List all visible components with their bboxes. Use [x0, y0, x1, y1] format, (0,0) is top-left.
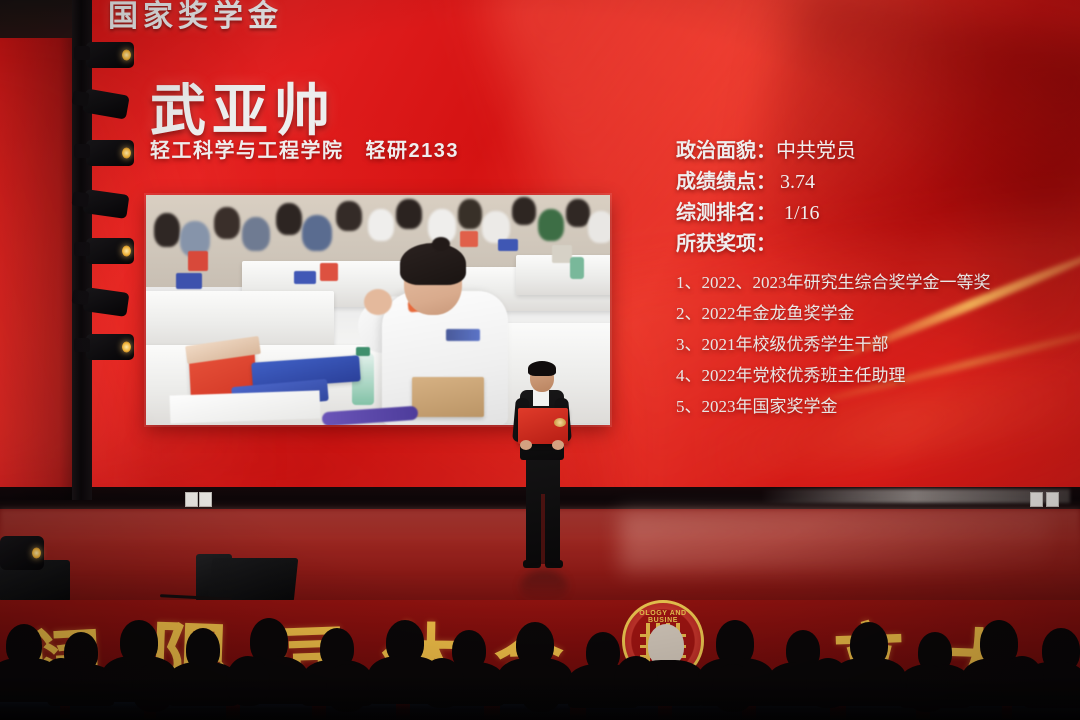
photo-prop-red-box	[460, 231, 478, 247]
photo-prop-red-box	[320, 263, 338, 281]
photo-person	[154, 213, 180, 247]
presenter-hand	[520, 440, 532, 450]
photo-person	[242, 217, 270, 251]
power-socket	[1046, 492, 1059, 507]
award-item: 4、2022年党校优秀班主任助理	[676, 360, 1056, 391]
award-item: 5、2023年国家奖学金	[676, 391, 1056, 422]
lamp-glow	[122, 50, 131, 61]
award-item: 1、2022、2023年研究生综合奖学金一等奖	[676, 267, 1056, 298]
folder-emblem-icon	[554, 418, 566, 427]
class-label: 轻研2133	[366, 140, 460, 162]
photo-person	[512, 197, 536, 225]
power-socket	[199, 492, 212, 507]
presenter-shirt	[533, 390, 549, 406]
info-label: 成绩绩点：	[676, 171, 776, 193]
lamp-arm	[74, 46, 90, 60]
lamp-glow	[122, 342, 131, 353]
photo-person	[302, 215, 332, 251]
info-label: 政治面貌：	[676, 140, 776, 162]
photo-person	[396, 199, 422, 229]
info-value: 中共党员	[776, 140, 856, 162]
photo-subject-hair	[400, 243, 466, 285]
power-socket	[185, 492, 198, 507]
photo-prop-kraft-box	[412, 377, 484, 417]
moving-head-light-icon	[86, 140, 134, 166]
moving-head-light-icon	[86, 42, 134, 68]
photo-prop-blue-box	[294, 271, 316, 284]
photo-person	[276, 203, 302, 235]
lamp-arm	[71, 289, 89, 305]
moving-head-light-icon	[86, 238, 134, 264]
presenter-shoe	[545, 560, 563, 568]
lamp-arm	[71, 191, 89, 207]
lamp-glow	[122, 246, 131, 257]
presenter-reflection	[520, 570, 568, 604]
photo-prop-kraft	[552, 245, 572, 263]
photo-prop-paper	[170, 390, 321, 423]
awards-heading: 所获奖项：	[676, 229, 1056, 260]
lamp-glow	[122, 148, 131, 159]
photo-subject-hair-bun	[432, 237, 450, 251]
info-row: 成绩绩点：3.74	[676, 167, 1056, 198]
info-column: 政治面貌：中共党员 成绩绩点：3.74 综测排名：1/16 所获奖项： 1、20…	[676, 136, 1056, 422]
floor-moving-head-light-icon	[0, 536, 44, 570]
award-item: 3、2021年校级优秀学生干部	[676, 329, 1056, 360]
photo-person	[368, 209, 394, 241]
stage-photo: 国家奖学金 武亚帅 轻工科学与工程学院轻研2133	[0, 0, 1080, 720]
photo-subject-hand	[364, 289, 392, 315]
student-department: 轻工科学与工程学院轻研2133	[150, 134, 459, 163]
moving-head-light-icon	[86, 334, 134, 360]
photo-prop-red-box	[188, 251, 208, 271]
info-value: 1/16	[784, 202, 820, 224]
photo-prop-blue-box	[176, 273, 202, 289]
info-label: 综测排名：	[676, 202, 776, 224]
photo-prop-bottle-cap	[356, 347, 370, 356]
presenter-hand	[552, 440, 564, 450]
photo-prop-blue-box	[498, 239, 518, 251]
presenter-shoe	[523, 560, 541, 568]
info-row: 综测排名：1/16	[676, 198, 1056, 229]
lamp-arm	[71, 90, 89, 107]
presenter-leg-gap	[541, 494, 545, 564]
presenter	[506, 364, 578, 576]
lamp-arm	[74, 242, 90, 256]
photo-person	[458, 199, 482, 229]
info-value: 3.74	[780, 171, 815, 193]
slide-title: 国家奖学金	[108, 0, 283, 35]
awards-list: 1、2022、2023年研究生综合奖学金一等奖 2、2022年金龙鱼奖学金 3、…	[676, 267, 1056, 422]
photo-person	[214, 207, 240, 239]
stage-left-shadow	[0, 0, 74, 500]
lamp-arm	[74, 144, 90, 158]
power-socket	[1030, 492, 1043, 507]
info-row: 政治面貌：中共党员	[676, 136, 1056, 167]
stage-floor-glint	[620, 512, 1050, 572]
photo-person	[566, 199, 590, 227]
presenter-hair	[528, 361, 556, 376]
lamp-arm	[74, 338, 90, 352]
photo-subject-uniform-logo	[446, 329, 480, 341]
stage-monitor-speaker	[208, 558, 299, 602]
stage-ceiling-wing	[0, 0, 74, 38]
photo-person	[336, 201, 362, 231]
department-label: 轻工科学与工程学院	[150, 140, 344, 162]
base-highlight	[760, 489, 1070, 503]
audience-foreground-fade	[0, 676, 1080, 720]
photo-prop-bottle	[570, 257, 584, 279]
photo-person	[588, 211, 610, 243]
lamp-glow	[32, 548, 41, 559]
award-item: 2、2022年金龙鱼奖学金	[676, 298, 1056, 329]
photo-person	[538, 209, 564, 241]
